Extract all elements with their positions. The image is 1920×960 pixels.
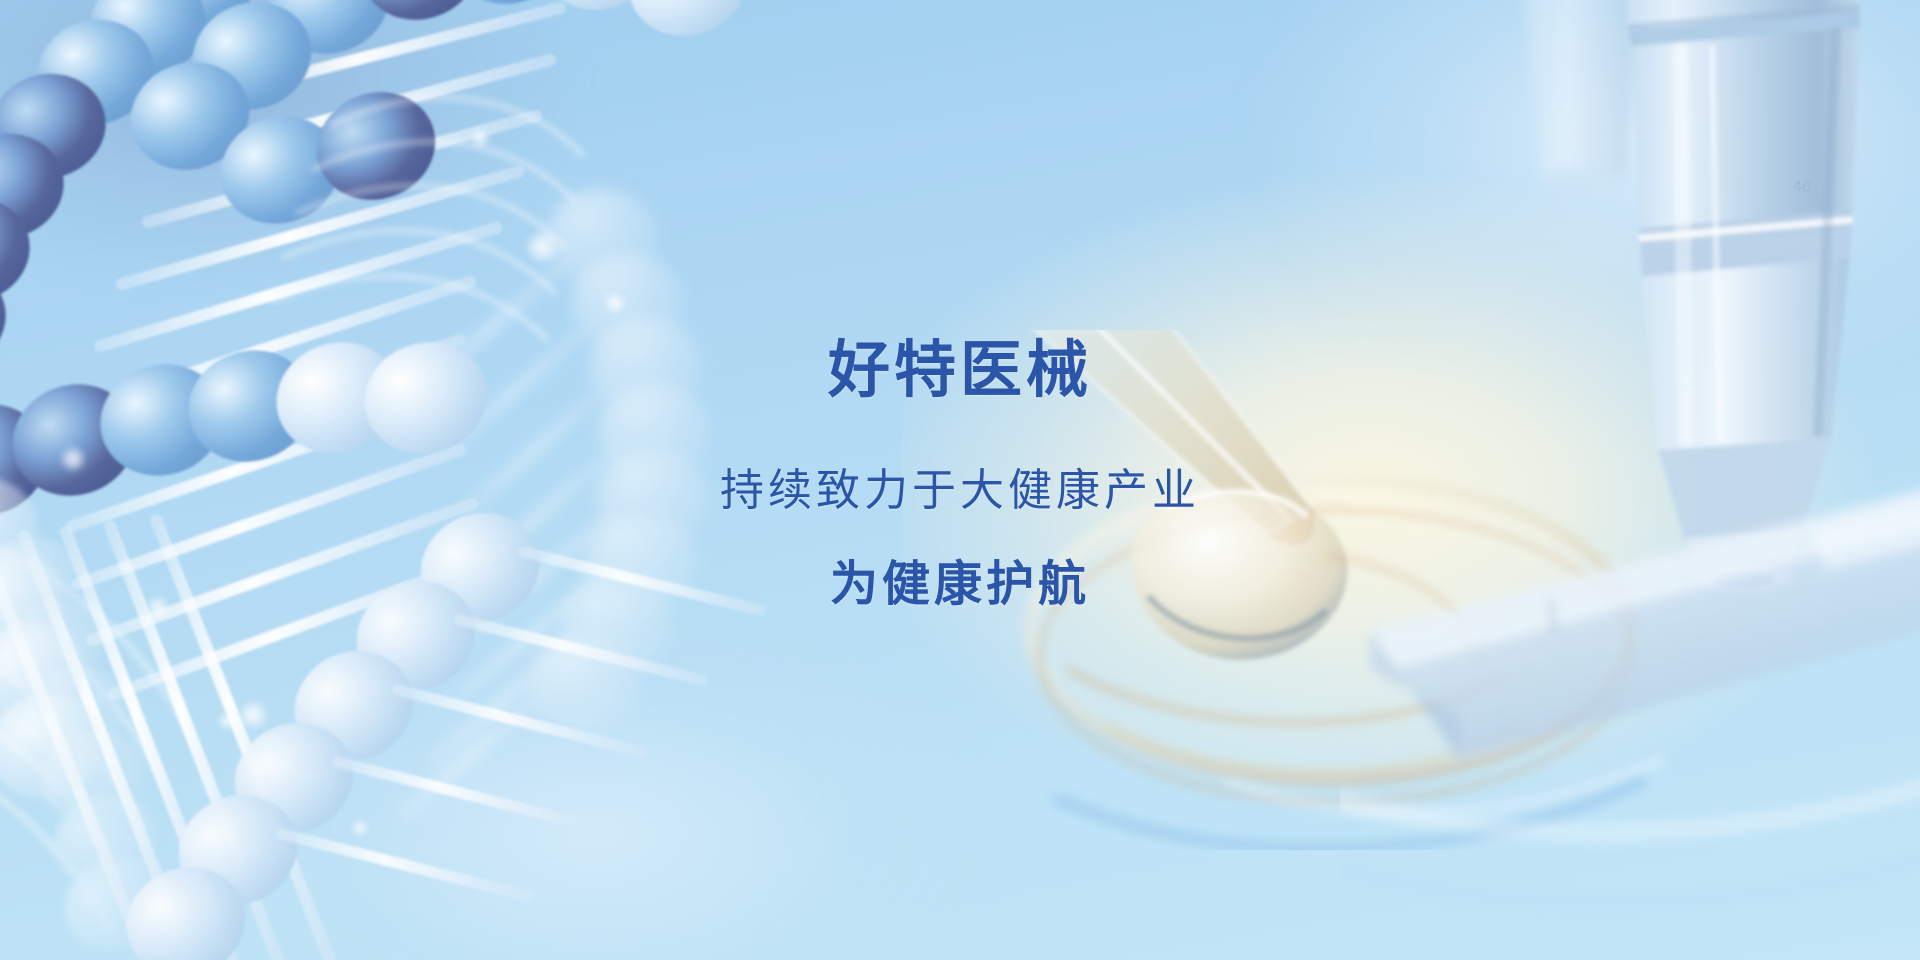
- background-shadow-haze: [0, 0, 653, 346]
- hero-tagline: 为健康护航: [0, 559, 1920, 612]
- hero-subtitle: 持续致力于大健康产业: [0, 467, 1920, 515]
- hero-text-block: 好特医械 持续致力于大健康产业 为健康护航: [0, 338, 1920, 612]
- hero-banner: 40 好特医械 持续致力于大健康产业 为健康护航: [0, 0, 1920, 960]
- microscope-magnification-label: 40: [1793, 178, 1812, 195]
- page-title: 好特医械: [0, 338, 1920, 403]
